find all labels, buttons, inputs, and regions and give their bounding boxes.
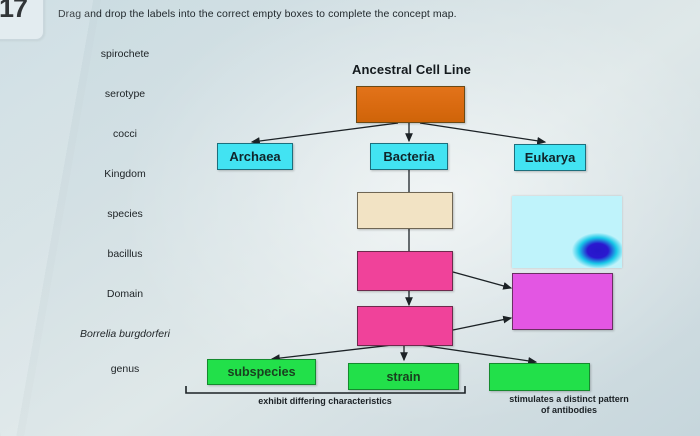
question-number: 17 [0, 0, 27, 24]
caption-stimulates-antibodies: stimulates a distinct pattern of antibod… [474, 394, 664, 417]
caption-exhibit-differing-characteristics: exhibit differing characteristics [205, 396, 445, 407]
caption-stimulates-antibodies-line2: of antibodies [474, 405, 664, 416]
node-empty-rank-1[interactable] [357, 192, 453, 229]
draggable-label-serotype[interactable]: serotype [60, 88, 190, 100]
instruction-text: Drag and drop the labels into the correc… [58, 8, 457, 20]
node-eukarya[interactable]: Eukarya [514, 144, 586, 171]
node-empty-serotype-slot[interactable] [489, 363, 590, 391]
draggable-label-cocci[interactable]: cocci [60, 128, 190, 140]
link-rank3-shape [453, 318, 511, 330]
node-empty-cell-shape[interactable] [512, 273, 613, 330]
draggable-label-bacillus[interactable]: bacillus [60, 248, 190, 260]
node-archaea[interactable]: Archaea [217, 143, 293, 170]
link-rank3-serotype-slot [420, 345, 536, 362]
draggable-label-spirochete[interactable]: spirochete [60, 48, 190, 60]
screenshot-root: 17 Drag and drop the labels into the cor… [0, 0, 700, 436]
caption-stimulates-antibodies-line1: stimulates a distinct pattern [474, 394, 664, 405]
draggable-label-borrelia-burgdorferi[interactable]: Borrelia burgdorferi [60, 328, 190, 340]
draggable-label-species[interactable]: species [60, 208, 190, 220]
node-empty-rank-2[interactable] [357, 251, 453, 291]
draggable-label-domain[interactable]: Domain [60, 288, 190, 300]
question-number-panel: 17 [0, 0, 44, 40]
bacteria-micrograph-image [512, 196, 622, 268]
node-bacteria[interactable]: Bacteria [370, 143, 448, 170]
node-subspecies[interactable]: subspecies [207, 359, 316, 385]
draggable-label-genus[interactable]: genus [60, 363, 190, 375]
word-bank: spirochete serotype cocci Kingdom specie… [60, 48, 190, 403]
link-ancestral-archaea [252, 123, 398, 142]
node-strain[interactable]: strain [348, 363, 459, 390]
link-rank2-shape [453, 272, 511, 288]
node-ancestral-cell-line[interactable] [356, 86, 465, 123]
concept-map-title: Ancestral Cell Line [352, 62, 471, 77]
link-rank3-subspecies [272, 345, 392, 359]
link-ancestral-eukarya [420, 123, 545, 142]
draggable-label-kingdom[interactable]: Kingdom [60, 168, 190, 180]
node-empty-rank-3[interactable] [357, 306, 453, 346]
